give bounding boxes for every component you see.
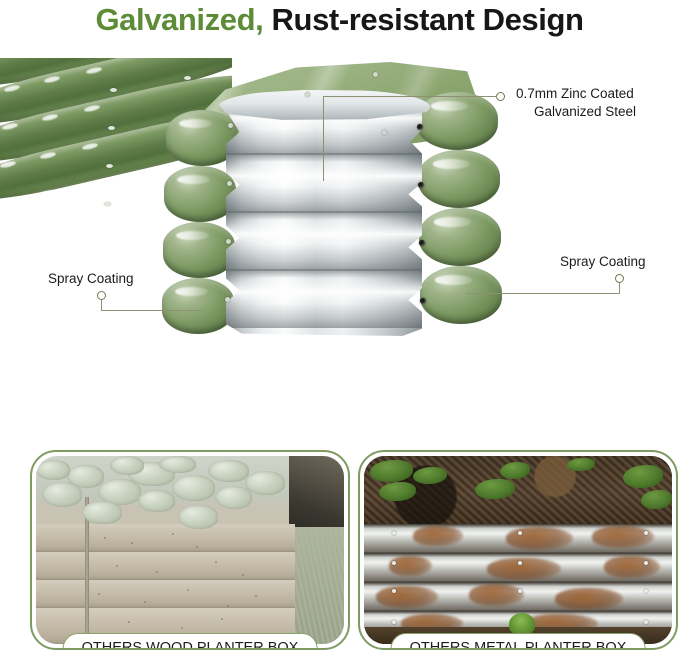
metal-planter-photo: [364, 456, 672, 644]
leader-line-horizontal: [101, 310, 203, 311]
panel-seam: [226, 153, 422, 155]
leaf: [172, 475, 215, 501]
comparison-card-others-wood: OTHERS WOOD PLANTER BOX: [30, 450, 350, 650]
highlight-streak: [175, 287, 208, 296]
wood-plank: [36, 552, 295, 580]
callout-spray-coating-left: Spray Coating: [48, 270, 188, 288]
screw: [420, 298, 426, 304]
leader-line-vertical: [323, 96, 324, 181]
leaf: [208, 460, 248, 483]
leaf: [215, 486, 252, 509]
corrugation-rib: [226, 212, 422, 270]
callout-marker-circle: [615, 274, 624, 283]
highlight-streak: [179, 119, 212, 128]
leaf: [500, 462, 531, 479]
screw: [228, 123, 233, 128]
leaf: [178, 505, 218, 529]
comparison-section: OTHERS WOOD PLANTER BOX: [0, 450, 679, 667]
leader-line-horizontal: [323, 96, 497, 97]
screw: [110, 88, 117, 92]
callout-label: Spray Coating: [560, 254, 646, 269]
planter-body: [168, 52, 528, 382]
galvanized-steel-cutaway: [226, 96, 422, 336]
leaf: [245, 471, 285, 495]
photo-background: [364, 456, 672, 644]
panel-seam: [226, 269, 422, 271]
hero-illustration: 0.7mm Zinc Coated Galvanized Steel Spray…: [0, 52, 679, 402]
leaf: [110, 456, 144, 475]
leaf: [641, 490, 672, 509]
rust-stain: [487, 558, 561, 581]
leader-line-vertical: [101, 300, 102, 310]
highlight-streak: [433, 159, 471, 168]
callout-zinc-coating: 0.7mm Zinc Coated Galvanized Steel: [516, 85, 679, 121]
callout-spray-coating-right: Spray Coating: [560, 253, 679, 271]
page-title: Galvanized, Rust-resistant Design: [0, 2, 679, 38]
highlight-streak: [434, 217, 472, 226]
screw: [373, 72, 378, 77]
highlight-streak: [435, 275, 473, 284]
page-title-highlight: Galvanized,: [95, 2, 263, 37]
screw: [226, 239, 231, 244]
highlight-streak: [431, 101, 469, 110]
leaf: [36, 460, 70, 481]
rust-stain: [555, 588, 623, 611]
highlight-streak: [0, 198, 14, 206]
screw: [418, 182, 424, 188]
comparison-card-others-metal: OTHERS METAL PLANTER BOX: [358, 450, 678, 650]
corrugation-rib: [226, 270, 422, 328]
callout-marker-circle: [496, 92, 505, 101]
screw: [108, 126, 115, 130]
screw: [225, 297, 230, 302]
screw: [305, 92, 310, 97]
page-title-rest: Rust-resistant Design: [272, 2, 584, 37]
wood-planter-photo: [36, 456, 344, 644]
infographic-stage: Galvanized, Rust-resistant Design: [0, 0, 679, 667]
highlight-streak: [177, 175, 210, 184]
screw: [419, 240, 425, 246]
leaf: [82, 501, 122, 524]
leaf: [138, 490, 175, 513]
corrugation-rib: [226, 154, 422, 212]
callout-label: Spray Coating: [48, 271, 134, 286]
screw: [106, 164, 113, 168]
rust-stain: [592, 526, 654, 549]
callout-line-2: Galvanized Steel: [516, 103, 679, 121]
screw: [417, 124, 423, 130]
sprout: [509, 613, 535, 635]
photo-background: [36, 456, 344, 644]
wood-plank: [36, 524, 295, 552]
leader-line-vertical: [619, 283, 620, 293]
leaf: [67, 465, 104, 488]
screw: [227, 181, 232, 186]
callout-marker-circle: [97, 291, 106, 300]
leaf: [159, 456, 196, 473]
rust-stain: [604, 556, 659, 579]
rust-stain: [389, 556, 432, 577]
callout-line-1: 0.7mm Zinc Coated: [516, 85, 679, 103]
highlight-streak: [176, 231, 209, 240]
rust-stain: [413, 526, 462, 547]
panel-seam: [226, 211, 422, 213]
leader-line-horizontal: [466, 293, 620, 294]
card-label-others-metal: OTHERS METAL PLANTER BOX: [391, 633, 646, 650]
screw: [104, 202, 111, 206]
screw: [382, 130, 387, 135]
card-label-others-wood: OTHERS WOOD PLANTER BOX: [63, 633, 318, 650]
